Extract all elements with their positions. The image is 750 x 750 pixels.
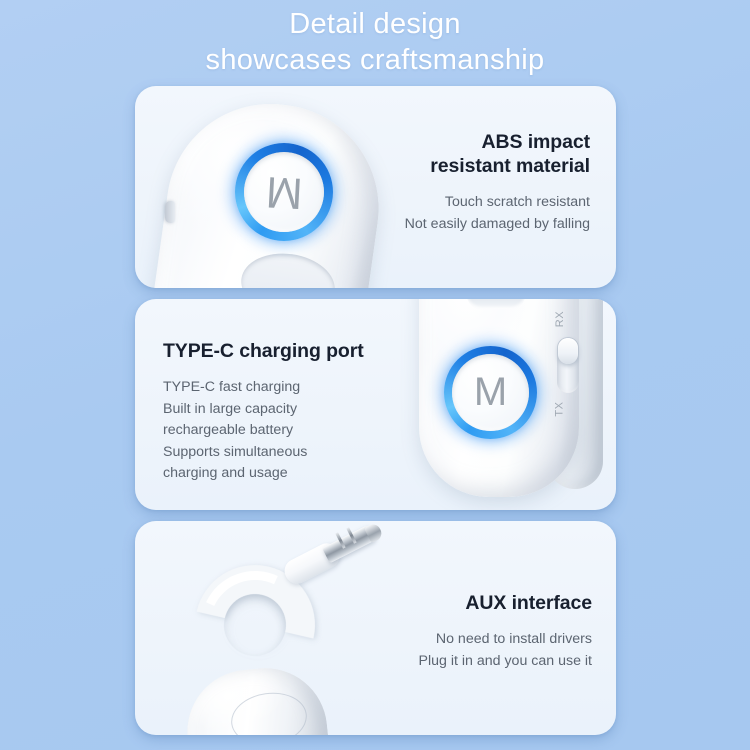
- m-button-label: M: [264, 166, 303, 218]
- card-body-line: No need to install drivers: [322, 629, 592, 651]
- switch-label-rx: RX: [554, 311, 566, 327]
- feature-card-type-c-port: TYPE-C charging port TYPE-C fast chargin…: [135, 299, 616, 510]
- product-image-adapter-side: M RX TX: [351, 299, 616, 510]
- card-body: Touch scratch resistant Not easily damag…: [330, 192, 590, 235]
- switch-label-tx: TX: [554, 401, 566, 416]
- button-face: M: [452, 354, 529, 431]
- card-body-line: Touch scratch resistant: [330, 192, 590, 214]
- multifunction-button: M: [235, 143, 333, 241]
- page-title: Detail design showcases craftsmanship: [0, 6, 750, 78]
- card-body-line: Not easily damaged by falling: [330, 214, 590, 236]
- card-heading-line-1: ABS impact: [330, 130, 590, 154]
- feature-card-aux-interface: AUX interface No need to install drivers…: [135, 521, 616, 735]
- feature-card-abs-material: M ABS impact resistant material Touch sc…: [135, 86, 616, 288]
- button-face: M: [244, 152, 324, 232]
- tx-rx-switch-knob: [558, 338, 578, 364]
- device-side-button: [165, 201, 175, 223]
- card-heading-line-2: resistant material: [330, 154, 590, 178]
- card-body: No need to install drivers Plug it in an…: [322, 629, 592, 672]
- m-button-label: M: [474, 370, 507, 415]
- multifunction-button: M: [444, 346, 537, 439]
- feature-text-aux-interface: AUX interface No need to install drivers…: [322, 591, 592, 672]
- feature-text-abs-material: ABS impact resistant material Touch scra…: [330, 130, 590, 235]
- card-heading: AUX interface: [322, 591, 592, 615]
- page-title-line-1: Detail design: [0, 6, 750, 42]
- card-heading-line-1: AUX interface: [322, 591, 592, 615]
- device-top-notch: [467, 299, 525, 309]
- page-title-line-2: showcases craftsmanship: [0, 42, 750, 78]
- card-heading: ABS impact resistant material: [330, 130, 590, 178]
- card-body-line: Plug it in and you can use it: [322, 651, 592, 673]
